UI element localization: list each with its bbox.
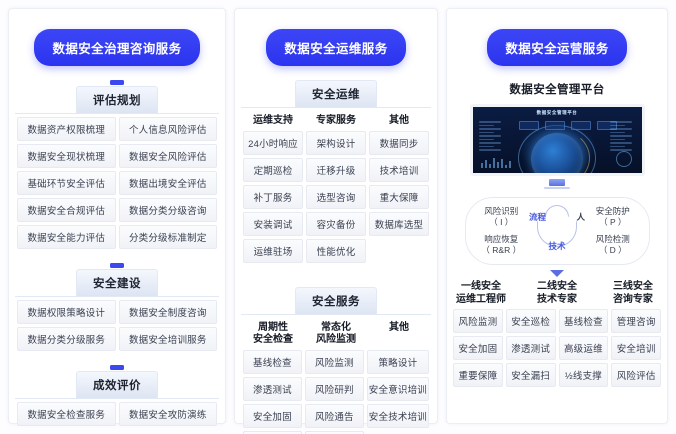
chip[interactable]: 补丁服务 (243, 185, 303, 209)
chip[interactable]: 应急处置 (305, 431, 364, 434)
chip-grid: 数据权限策略设计 数据安全制度咨询 数据分类分级服务 数据安全培训服务 (15, 300, 219, 351)
platform-title: 数据安全管理平台 (509, 81, 604, 97)
chip-grid: 24小时响应 架构设计 数据同步 定期巡检 迁移升级 技术培训 补丁服务 选型咨… (241, 131, 431, 263)
column-header: 周期性 安全检查 (243, 322, 303, 347)
chip[interactable]: 渗透测试 (243, 377, 302, 401)
screen-kpi-card (545, 121, 565, 130)
screen-right-panel (610, 121, 636, 153)
chip-grid: 数据安全检查服务 数据安全攻防演练 (15, 402, 219, 426)
chip[interactable]: 运维驻场 (243, 239, 303, 263)
chip[interactable]: 数据安全现状梳理 (17, 144, 116, 168)
chip[interactable]: 安全培训 (611, 336, 661, 360)
chip[interactable]: 数据安全合规评估 (17, 198, 116, 222)
chip[interactable]: 数据资产权限梳理 (17, 117, 116, 141)
section-optimization: 优化完善 数据安全运营服务 数据安全运维服务 (15, 426, 219, 434)
arc-top-icon (545, 205, 569, 217)
pdrr-center-technology: 技术 (548, 240, 565, 252)
pdrr-label: 响应恢复 (474, 234, 530, 245)
chip[interactable]: 数据安全风险评估 (119, 144, 218, 168)
chip[interactable]: 迁移升级 (306, 158, 366, 182)
globe-icon (531, 133, 583, 176)
chip[interactable]: 重大保障 (369, 185, 429, 209)
pdrr-center: 流程 人 技术 (529, 209, 585, 253)
column-headers: 运维支持 专家服务 其他 (241, 115, 431, 128)
chip[interactable]: 数据安全制度咨询 (119, 300, 218, 324)
chip[interactable]: 性能优化 (306, 239, 366, 263)
chip[interactable]: 数据出境安全评估 (119, 171, 218, 195)
screen-title: 数据安全管理平台 (473, 110, 642, 116)
section-divider (15, 113, 219, 114)
card-ops: 数据安全运维服务 安全运维 运维支持 专家服务 其他 24小时响应 架构设计 数… (234, 8, 438, 424)
pdrr-center-process: 流程 (529, 211, 546, 223)
monitor-base (544, 187, 570, 189)
chip[interactable]: 数据安全攻防演练 (119, 402, 218, 426)
section-divider (15, 398, 219, 399)
screen-left-panel (479, 121, 505, 153)
team-header-l2: 二线安全 技术专家 (512, 281, 602, 306)
team-header-l1: 一线安全 运维工程师 (453, 281, 509, 306)
pdrr-item-protection: 安全防护 （ P ） (585, 206, 641, 228)
chip[interactable]: 数据安全培训服务 (119, 327, 218, 351)
chip[interactable]: 个人信息风险评估 (119, 117, 218, 141)
chip[interactable]: 高级运维 (559, 336, 609, 360)
section-security-construction: 安全建设 数据权限策略设计 数据安全制度咨询 数据分类分级服务 数据安全培训服务 (15, 249, 219, 351)
down-arrow-icon (550, 270, 564, 277)
chip[interactable]: 安全加固 (453, 336, 503, 360)
section-divider (241, 107, 431, 108)
chip[interactable]: 安装调试 (243, 212, 303, 236)
section-title: 安全运维 (295, 80, 377, 107)
chip[interactable]: 渗透测试 (506, 336, 556, 360)
chip[interactable]: 重要保障 (453, 363, 503, 387)
chip[interactable]: 风险评估 (611, 363, 661, 387)
chip[interactable]: 分类分级标准制定 (119, 225, 218, 249)
chip[interactable]: 定期巡检 (243, 158, 303, 182)
screen-kpi-card (519, 121, 539, 130)
chip[interactable]: 数据库选型 (369, 212, 429, 236)
chip[interactable]: 攻防演练 (243, 431, 302, 434)
card-governance: 数据安全治理咨询服务 评估规划 数据资产权限梳理 个人信息风险评估 数据安全现状… (8, 8, 226, 424)
section-assessment-planning: 评估规划 数据资产权限梳理 个人信息风险评估 数据安全现状梳理 数据安全风险评估… (15, 66, 219, 249)
team-chip-grid: 风险监测 安全巡检 基线检查 管理咨询 安全加固 渗透测试 高级运维 安全培训 … (453, 309, 661, 387)
team-headers: 一线安全 运维工程师 二线安全 技术专家 三线安全 咨询专家 (453, 281, 661, 306)
chip[interactable]: 安全巡检 (506, 309, 556, 333)
pill-title-operation: 数据安全运营服务 (487, 29, 626, 66)
chip[interactable]: 数据分类分级咨询 (119, 198, 218, 222)
chip[interactable]: 风险通告 (305, 404, 364, 428)
pdrr-capsule: 风险识别 （ I ） 流程 人 技术 安全防护 （ P ） 响应恢复 （ R&R… (465, 197, 650, 265)
column-header: 其他 (369, 115, 429, 128)
section-title: 成效评价 (76, 371, 158, 398)
pdrr-item-risk-identification: 风险识别 （ I ） (474, 206, 530, 228)
pdrr-label: 风险检测 (585, 234, 641, 245)
pdrr-grid: 风险识别 （ I ） 流程 人 技术 安全防护 （ P ） 响应恢复 （ R&R… (474, 206, 641, 256)
chip[interactable]: 风险监测 (305, 350, 364, 374)
pdrr-center-people: 人 (576, 211, 585, 223)
chip[interactable]: 数据安全检查服务 (17, 402, 116, 426)
pdrr-code: （ P ） (585, 217, 641, 228)
section-title: 评估规划 (76, 86, 158, 113)
card-operation: 数据安全运营服务 数据安全管理平台 数据安全管理平台 (446, 8, 668, 424)
pill-title-ops: 数据安全运维服务 (266, 29, 405, 66)
column-header: 常态化 风险监测 (306, 322, 366, 347)
section-divider (15, 296, 219, 297)
chip[interactable]: 架构设计 (306, 131, 366, 155)
section-header-wrap: 安全运维 (295, 80, 377, 107)
chip[interactable]: 基础环节安全评估 (17, 171, 116, 195)
pdrr-item-detection: 风险检测 （ D ） (585, 234, 641, 256)
section-header-wrap: 安全服务 (295, 287, 377, 314)
pdrr-item-response-recovery: 响应恢复 （ R&R ） (474, 234, 530, 256)
chip-grid: 数据资产权限梳理 个人信息风险评估 数据安全现状梳理 数据安全风险评估 基础环节… (15, 117, 219, 249)
column-headers: 周期性 安全检查 常态化 风险监测 其他 (241, 322, 431, 347)
section-marker-icon (110, 80, 124, 85)
platform-screenshot: 数据安全管理平台 (470, 104, 645, 176)
screen-kpi-card (571, 121, 591, 130)
chip[interactable]: 风险研判 (305, 377, 364, 401)
pill-title-governance: 数据安全治理咨询服务 (34, 29, 199, 66)
section-security-ops: 安全运维 运维支持 专家服务 其他 24小时响应 架构设计 数据同步 定期巡检 … (241, 66, 431, 263)
chip[interactable]: 基线检查 (559, 309, 609, 333)
column-header: 其他 (369, 322, 429, 347)
section-title: 安全建设 (76, 269, 158, 296)
chip[interactable]: 安全漏扫 (506, 363, 556, 387)
pdrr-code: （ R&R ） (474, 245, 530, 256)
chip[interactable]: 数据安全能力评估 (17, 225, 116, 249)
chip[interactable]: 安全加固 (243, 404, 302, 428)
column-header: 运维支持 (243, 115, 303, 128)
screen-bar-chart (481, 158, 511, 168)
chip[interactable]: 选型咨询 (306, 185, 366, 209)
section-header-wrap: 评估规划 (76, 80, 158, 113)
pdrr-label: 安全防护 (585, 206, 641, 217)
chip[interactable]: 策略设计 (367, 350, 429, 374)
team-header-l3: 三线安全 咨询专家 (605, 281, 661, 306)
section-marker-icon (110, 365, 124, 370)
chip[interactable]: 安全技术培训 (367, 404, 429, 428)
chip[interactable]: 数据分类分级服务 (17, 327, 116, 351)
chip[interactable]: 24小时响应 (243, 131, 303, 155)
section-title: 安全服务 (295, 287, 377, 314)
section-divider (241, 314, 431, 315)
pdrr-code: （ D ） (585, 245, 641, 256)
section-header-wrap: 安全建设 (76, 263, 158, 296)
column-header: 专家服务 (306, 115, 366, 128)
chip[interactable]: 管理咨询 (611, 309, 661, 333)
chip-grid: 基线检查 风险监测 策略设计 渗透测试 风险研判 安全意识培训 安全加固 风险通… (241, 350, 431, 434)
chip[interactable]: ½线支撑 (559, 363, 609, 387)
section-header-wrap: 成效评价 (76, 365, 158, 398)
pdrr-code: （ I ） (474, 217, 530, 228)
chip[interactable]: 数据同步 (369, 131, 429, 155)
chip-placeholder (367, 431, 429, 434)
chip[interactable]: 数据权限策略设计 (17, 300, 116, 324)
section-security-service: 安全服务 周期性 安全检查 常态化 风险监测 其他 基线检查 风险监测 策略设计… (241, 273, 431, 434)
chip[interactable]: 风险监测 (453, 309, 503, 333)
chip[interactable]: 基线检查 (243, 350, 302, 374)
service-overview-page: 数据安全治理咨询服务 评估规划 数据资产权限梳理 个人信息风险评估 数据安全现状… (0, 0, 676, 434)
screen-gauge-icon (616, 151, 632, 167)
chip[interactable]: 技术培训 (369, 158, 429, 182)
chip[interactable]: 容灾备份 (306, 212, 366, 236)
chip[interactable]: 安全意识培训 (367, 377, 429, 401)
section-marker-icon (110, 263, 124, 268)
chip-placeholder (369, 239, 429, 263)
pdrr-label: 风险识别 (474, 206, 530, 217)
section-effect-evaluation: 成效评价 数据安全检查服务 数据安全攻防演练 (15, 351, 219, 426)
monitor-stand (549, 179, 565, 186)
